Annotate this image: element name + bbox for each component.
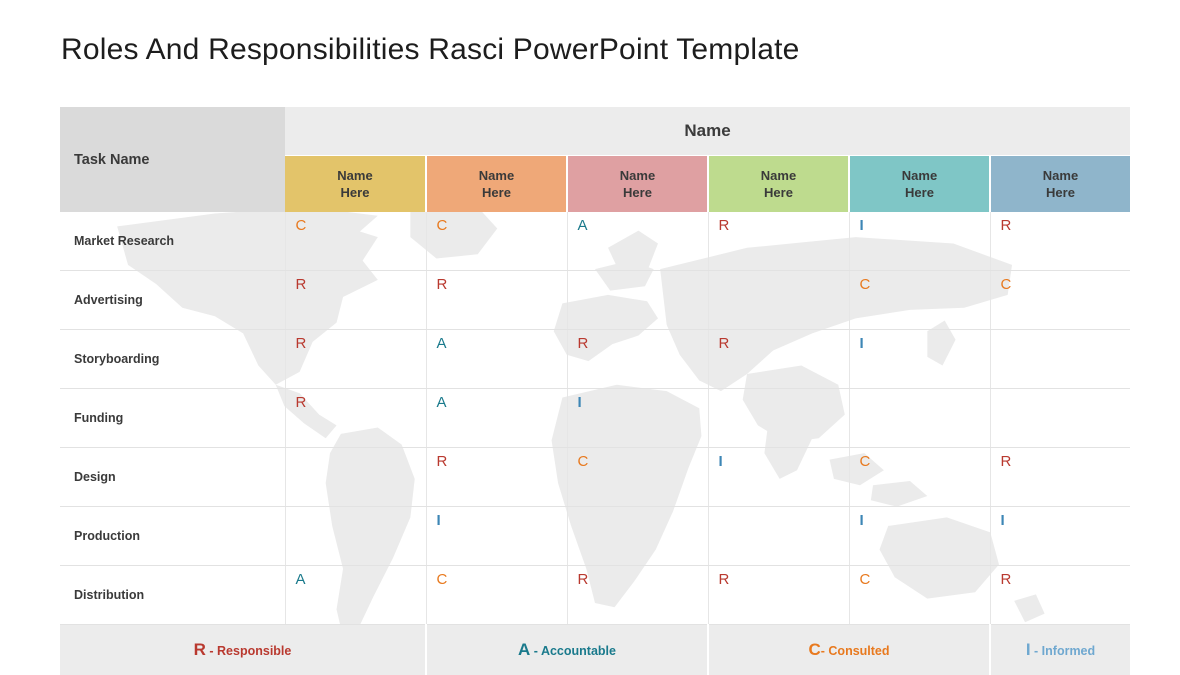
matrix-cell[interactable]: I: [426, 507, 567, 566]
column-header-5-line1: Name: [902, 168, 937, 183]
table-row: StoryboardingRARRI: [60, 330, 1130, 389]
matrix-cell[interactable]: [708, 389, 849, 448]
matrix-cell[interactable]: I: [849, 507, 990, 566]
column-header-3-line1: Name: [620, 168, 655, 183]
column-header-2-line2: Here: [482, 185, 511, 200]
matrix-cell[interactable]: C: [426, 566, 567, 625]
matrix-cell[interactable]: I: [849, 212, 990, 271]
matrix-cell[interactable]: C: [567, 448, 708, 507]
matrix-cell[interactable]: [849, 389, 990, 448]
matrix-cell[interactable]: R: [990, 212, 1130, 271]
matrix-cell[interactable]: C: [990, 271, 1130, 330]
table-row: Market ResearchCCARIR: [60, 212, 1130, 271]
matrix-cell[interactable]: [990, 389, 1130, 448]
legend-key-c: C: [808, 640, 820, 659]
legend-item-responsible: R - Responsible: [60, 625, 426, 675]
legend-key-a: A: [518, 640, 530, 659]
matrix-cell[interactable]: C: [285, 212, 426, 271]
table-group-header-row: Task Name Name: [60, 107, 1130, 156]
matrix-cell[interactable]: R: [708, 212, 849, 271]
rasci-matrix: Task Name Name Name Here Name Here Name …: [60, 107, 1130, 638]
table-row: DesignRCICR: [60, 448, 1130, 507]
group-header-name: Name: [285, 107, 1130, 156]
legend-key-r: R: [194, 640, 206, 659]
legend-text-c: - Consulted: [821, 644, 890, 658]
matrix-cell[interactable]: A: [426, 330, 567, 389]
matrix-cell[interactable]: R: [426, 271, 567, 330]
matrix-cell[interactable]: R: [426, 448, 567, 507]
matrix-cell[interactable]: I: [990, 507, 1130, 566]
legend-item-accountable: A - Accountable: [426, 625, 708, 675]
row-label: Production: [60, 507, 285, 566]
matrix-cell[interactable]: I: [567, 389, 708, 448]
matrix-cell[interactable]: R: [285, 389, 426, 448]
matrix-cell[interactable]: R: [990, 566, 1130, 625]
table-row: DistributionACRRCR: [60, 566, 1130, 625]
matrix-cell[interactable]: A: [567, 212, 708, 271]
matrix-cell[interactable]: R: [708, 330, 849, 389]
matrix-cell[interactable]: I: [849, 330, 990, 389]
rasci-table: Task Name Name Name Here Name Here Name …: [60, 107, 1130, 675]
row-label: Market Research: [60, 212, 285, 271]
row-label: Design: [60, 448, 285, 507]
matrix-cell[interactable]: [708, 507, 849, 566]
column-header-6-line2: Here: [1046, 185, 1075, 200]
legend-text-i: - Informed: [1031, 644, 1096, 658]
matrix-cell[interactable]: A: [426, 389, 567, 448]
row-label: Storyboarding: [60, 330, 285, 389]
legend-item-informed: I - Informed: [990, 625, 1130, 675]
column-header-5[interactable]: Name Here: [849, 156, 990, 213]
matrix-cell[interactable]: [990, 330, 1130, 389]
matrix-cell[interactable]: C: [426, 212, 567, 271]
matrix-cell[interactable]: [567, 507, 708, 566]
column-header-6-line1: Name: [1043, 168, 1078, 183]
column-header-5-line2: Here: [905, 185, 934, 200]
page-title: Roles And Responsibilities Rasci PowerPo…: [61, 33, 800, 67]
legend-text-a: - Accountable: [530, 644, 616, 658]
column-header-6[interactable]: Name Here: [990, 156, 1130, 213]
table-body: Market ResearchCCARIRAdvertisingRRCCStor…: [60, 212, 1130, 625]
row-label: Advertising: [60, 271, 285, 330]
matrix-cell[interactable]: C: [849, 448, 990, 507]
column-header-4-line2: Here: [764, 185, 793, 200]
column-header-1-line1: Name: [337, 168, 372, 183]
matrix-cell[interactable]: [285, 507, 426, 566]
column-header-4[interactable]: Name Here: [708, 156, 849, 213]
matrix-cell[interactable]: [285, 448, 426, 507]
row-label: Funding: [60, 389, 285, 448]
matrix-cell[interactable]: [708, 271, 849, 330]
column-header-1[interactable]: Name Here: [285, 156, 426, 213]
column-header-3[interactable]: Name Here: [567, 156, 708, 213]
row-label: Distribution: [60, 566, 285, 625]
matrix-cell[interactable]: C: [849, 271, 990, 330]
table-row: FundingRAI: [60, 389, 1130, 448]
column-header-1-line2: Here: [341, 185, 370, 200]
matrix-cell[interactable]: [567, 271, 708, 330]
matrix-cell[interactable]: R: [567, 330, 708, 389]
legend-item-consulted: C- Consulted: [708, 625, 990, 675]
column-header-4-line1: Name: [761, 168, 796, 183]
table-row: AdvertisingRRCC: [60, 271, 1130, 330]
legend-text-r: - Responsible: [206, 644, 291, 658]
matrix-cell[interactable]: A: [285, 566, 426, 625]
matrix-cell[interactable]: R: [990, 448, 1130, 507]
matrix-cell[interactable]: R: [567, 566, 708, 625]
corner-task-name-header: Task Name: [60, 107, 285, 212]
column-header-2-line1: Name: [479, 168, 514, 183]
matrix-cell[interactable]: R: [285, 330, 426, 389]
matrix-cell[interactable]: R: [708, 566, 849, 625]
matrix-cell[interactable]: C: [849, 566, 990, 625]
column-header-2[interactable]: Name Here: [426, 156, 567, 213]
legend-row: R - Responsible A - Accountable C- Consu…: [60, 625, 1130, 675]
matrix-cell[interactable]: I: [708, 448, 849, 507]
matrix-cell[interactable]: R: [285, 271, 426, 330]
table-row: ProductionIII: [60, 507, 1130, 566]
column-header-3-line2: Here: [623, 185, 652, 200]
